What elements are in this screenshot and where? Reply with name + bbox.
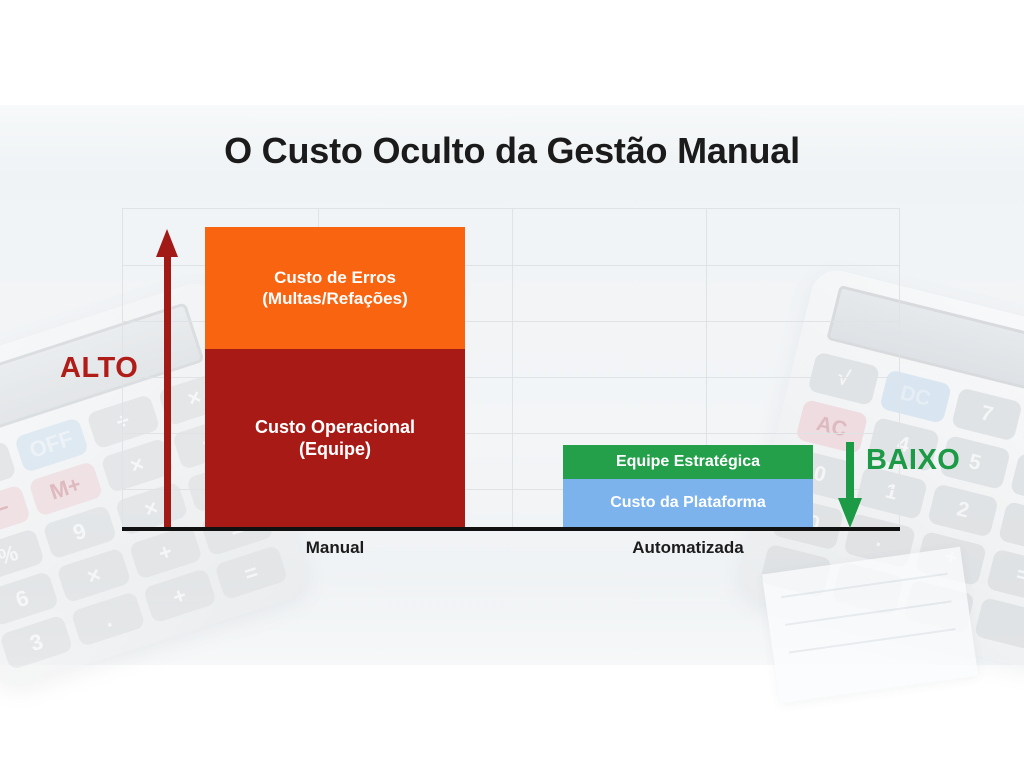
bar-label-line1: Custo de Erros — [274, 268, 396, 287]
bar-segment-equipe-estrategica[interactable]: Equipe Estratégica — [563, 445, 813, 479]
grid-line-vertical — [899, 208, 900, 528]
arrow-down-head — [838, 498, 862, 528]
grid-line-horizontal — [122, 208, 900, 209]
slide-canvas: ▶ OFF ÷ × M− M+ × − % 9 × = 6 × + = 3 . … — [0, 0, 1024, 768]
category-label-automatizada: Automatizada — [563, 538, 813, 558]
arrow-up-icon — [156, 229, 178, 527]
calc-key: M+ — [28, 461, 102, 516]
arrow-up-shaft — [164, 253, 171, 527]
arrow-down-shaft — [846, 442, 854, 502]
indicator-label-alto: ALTO — [60, 352, 138, 385]
bar-segment-custo-da-plataforma[interactable]: Custo da Plataforma — [563, 479, 813, 527]
calc-key: 3 — [998, 501, 1024, 556]
grid-line-vertical — [512, 208, 513, 528]
bar-segment-label: Custo Operacional (Equipe) — [255, 416, 415, 461]
bar-segment-custo-operacional[interactable]: Custo Operacional (Equipe) — [205, 349, 465, 527]
page-title: O Custo Oculto da Gestão Manual — [0, 130, 1024, 172]
bar-segment-label: Custo de Erros (Multas/Refações) — [262, 267, 407, 310]
x-axis-line — [122, 527, 900, 531]
bar-segment-label: Custo da Plataforma — [610, 493, 766, 513]
calc-key: = — [986, 549, 1024, 604]
indicator-label-baixo: BAIXO — [866, 444, 960, 477]
bar-segment-label: Equipe Estratégica — [616, 452, 760, 472]
calc-key: 2 — [927, 483, 1000, 538]
calc-key: 6 — [1010, 453, 1024, 508]
category-label-manual: Manual — [205, 538, 465, 558]
paper-sheet-decorative — [762, 547, 978, 704]
bar-label-line2: (Equipe) — [299, 439, 371, 459]
arrow-down-icon — [838, 442, 862, 528]
bar-segment-custo-de-erros[interactable]: Custo de Erros (Multas/Refações) — [205, 227, 465, 349]
bar-label-line2: (Multas/Refações) — [262, 289, 407, 308]
bar-label-line1: Custo Operacional — [255, 417, 415, 437]
